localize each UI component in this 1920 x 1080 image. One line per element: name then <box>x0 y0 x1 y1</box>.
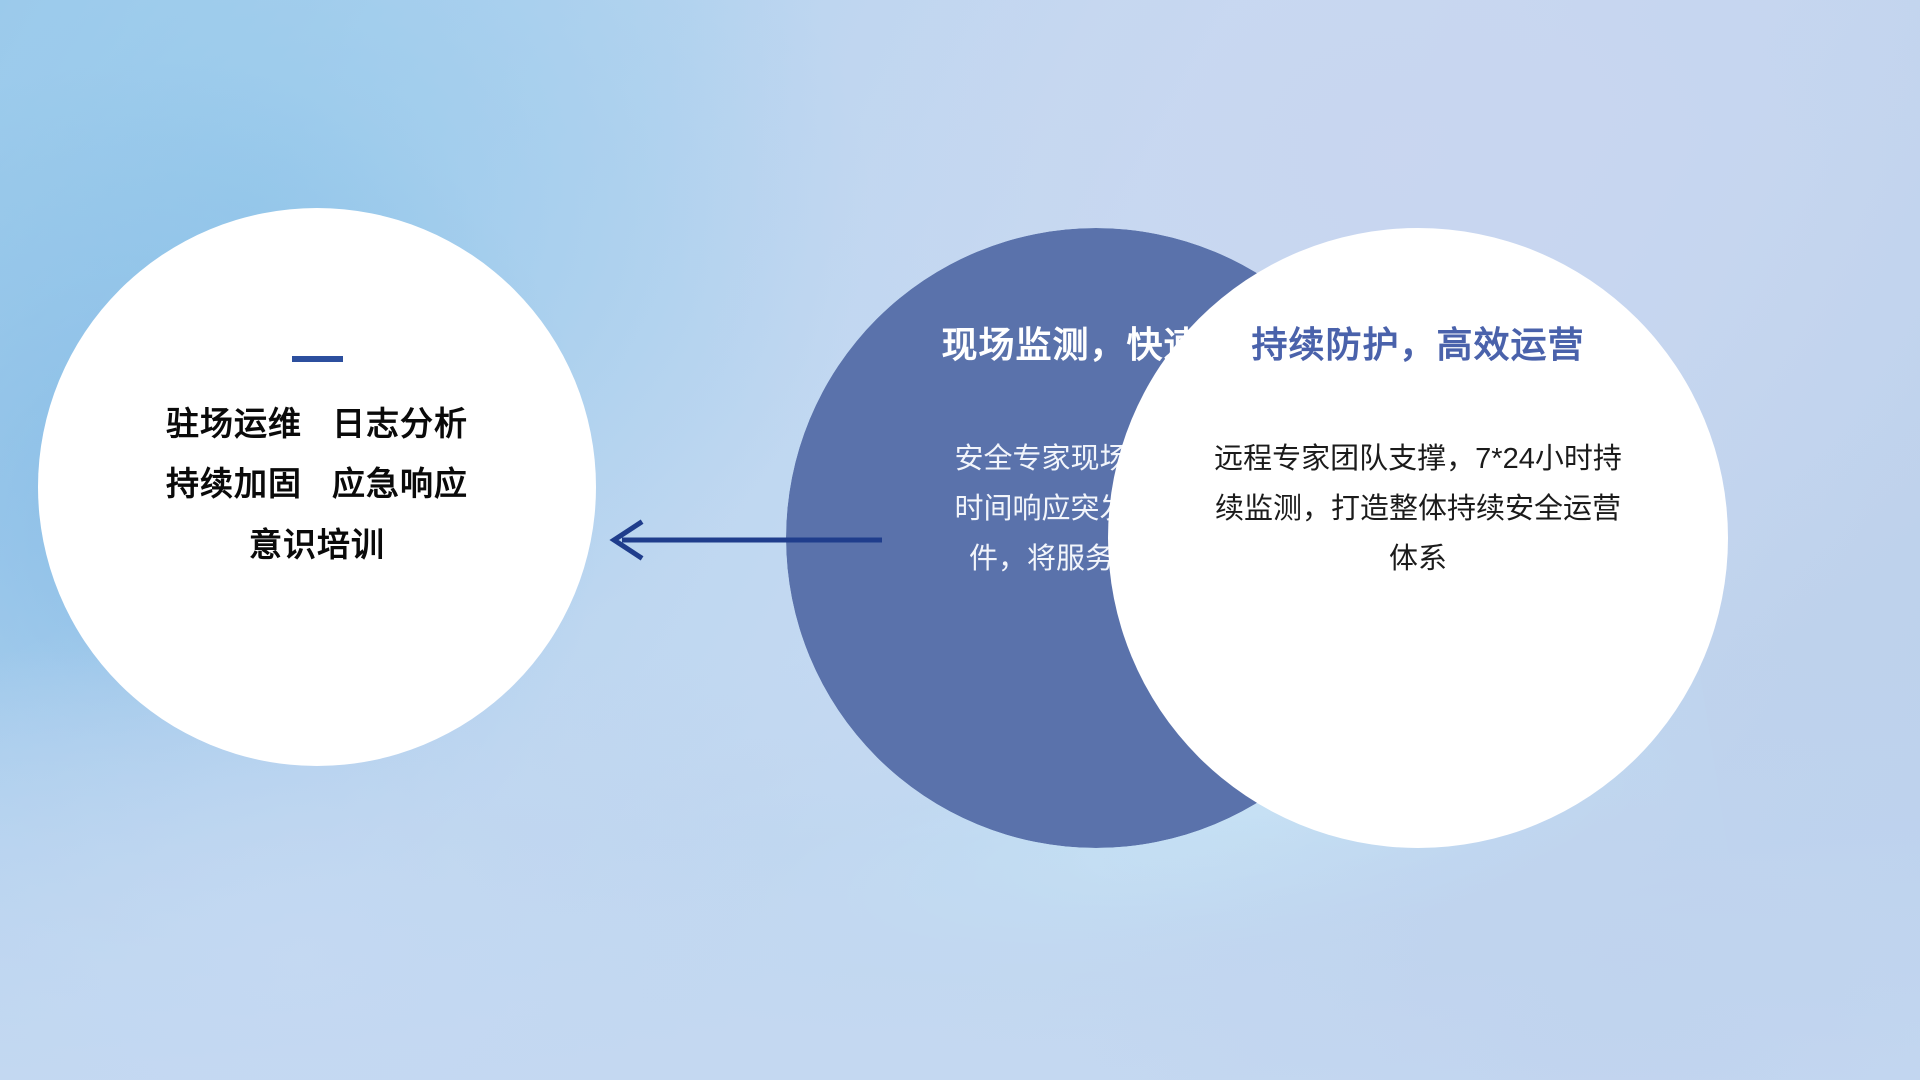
list-item: 驻场运维日志分析 <box>166 406 468 442</box>
list-item: 持续加固应急响应 <box>166 466 468 502</box>
list-item: 意识培训 <box>249 527 385 563</box>
right-circle-title: 持续防护，高效运营 <box>1251 316 1584 368</box>
diagram-stage: 现场监测，快速响应 安全专家现场保障，最短时间响应突发网络安全事件，将服务效率最… <box>0 0 1920 1080</box>
flow-arrow-left-icon <box>596 516 882 564</box>
right-circle: 持续防护，高效运营 远程专家团队支撑，7*24小时持续监测，打造整体持续安全运营… <box>1108 228 1728 848</box>
left-keyword-b: 应急响应 <box>332 465 468 502</box>
left-circle: 驻场运维日志分析 持续加固应急响应 意识培训 <box>38 208 596 766</box>
left-circle-keyword-list: 驻场运维日志分析 持续加固应急响应 意识培训 <box>166 406 468 563</box>
right-circle-body: 远程专家团队支撑，7*24小时持续监测，打造整体持续安全运营体系 <box>1203 434 1633 584</box>
left-keyword-a: 驻场运维 <box>166 405 302 442</box>
left-keyword-a: 持续加固 <box>166 465 302 502</box>
left-keyword-b: 日志分析 <box>332 405 468 442</box>
dash-accent-icon <box>292 356 343 362</box>
left-keyword-a: 意识培训 <box>249 526 385 563</box>
